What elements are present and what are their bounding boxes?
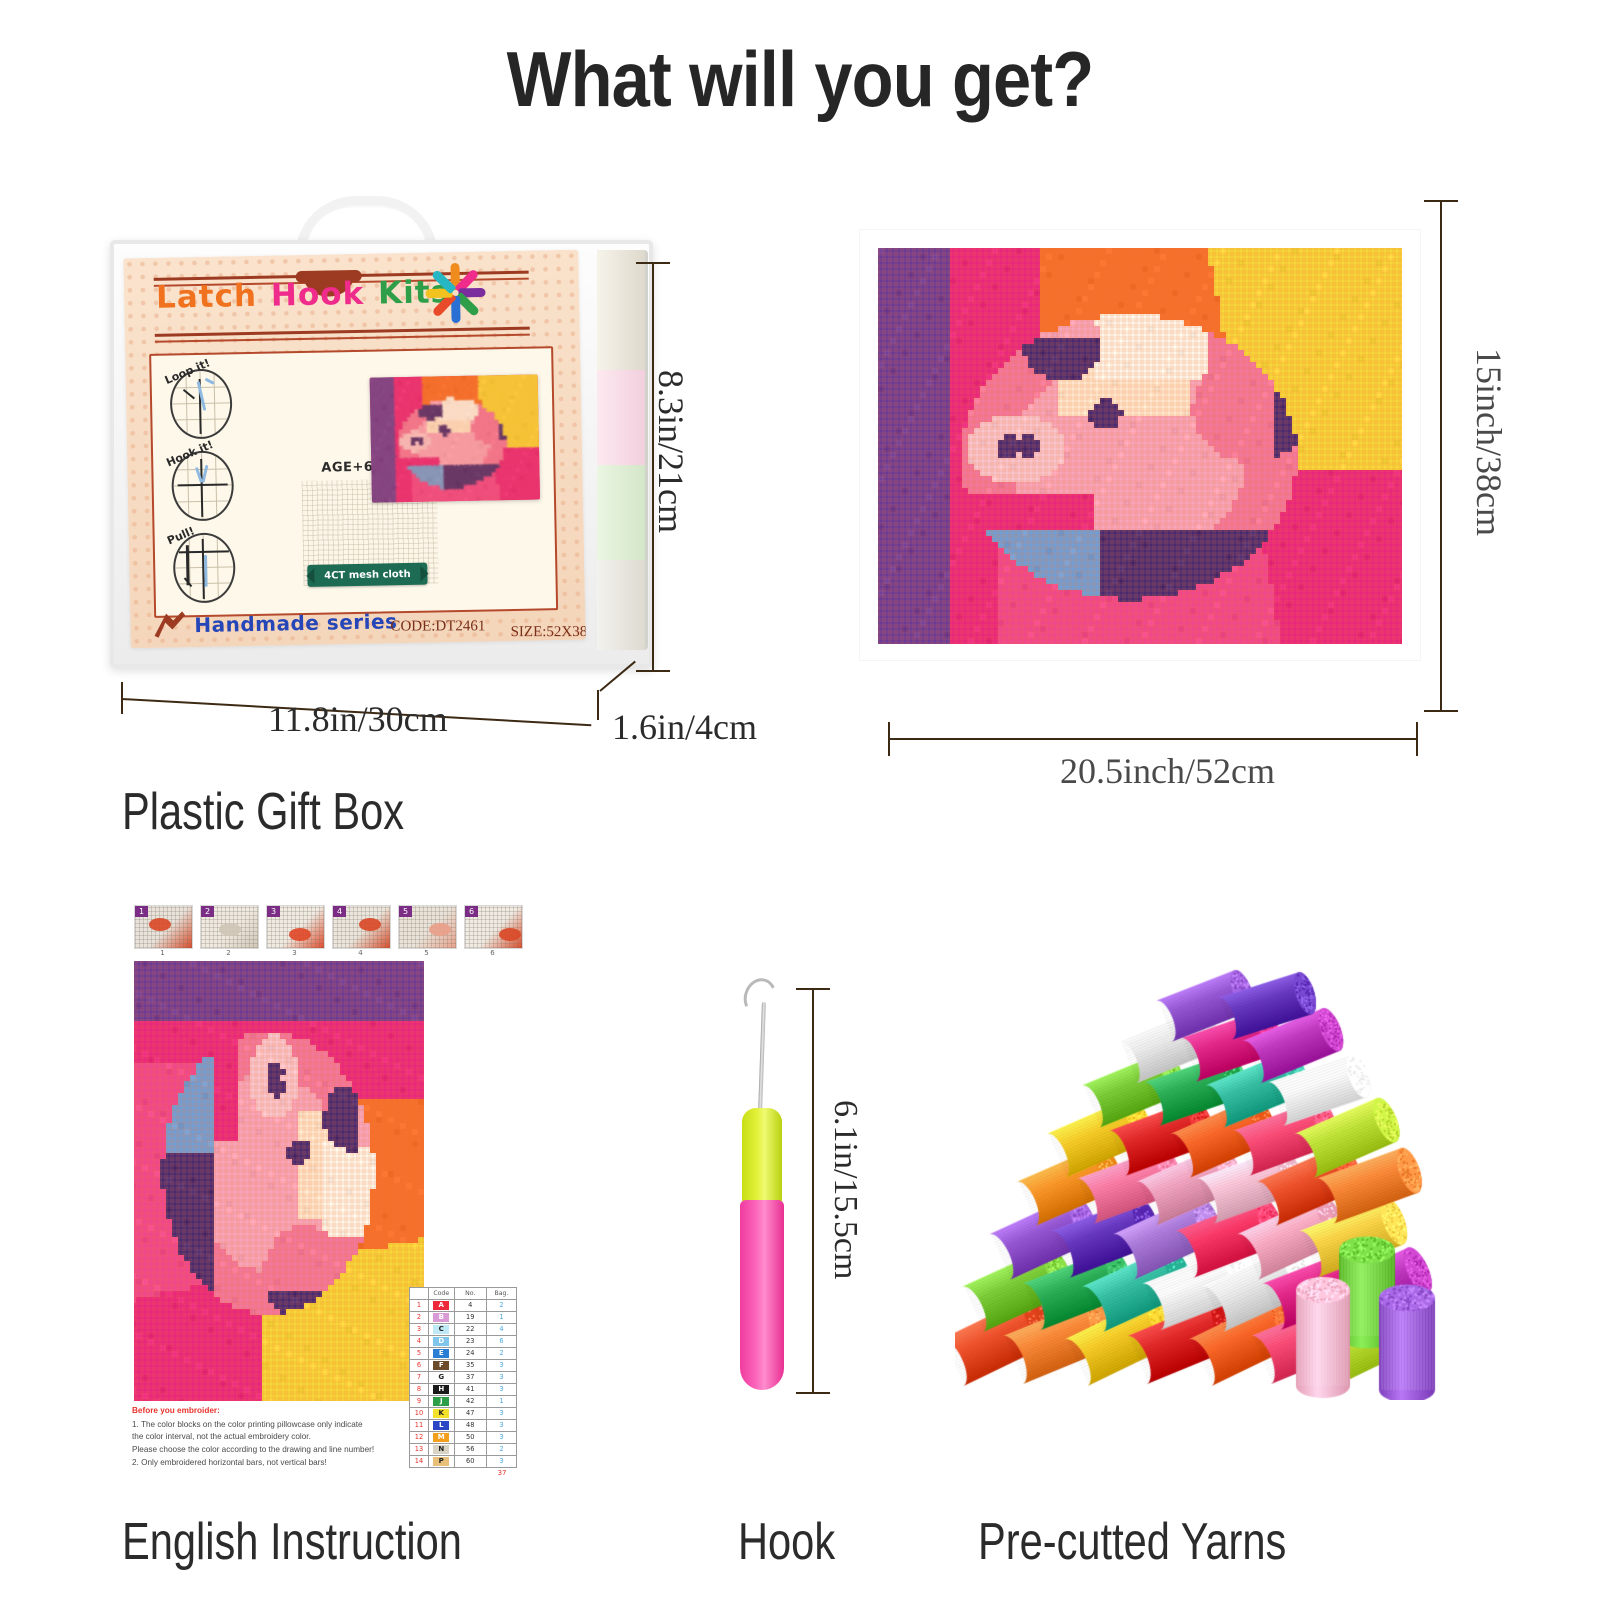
hook-handle-top [742, 1108, 782, 1203]
step-thumbnail-caption: 3 [266, 949, 323, 957]
legend-index: 4 [410, 1336, 429, 1348]
instruction-sheet: 112233445566 Before you embroider: 1. Th… [124, 905, 524, 1485]
hook-length-label: 6.1in/15.5cm [826, 1100, 864, 1279]
legend-row: 3C224 [410, 1324, 517, 1336]
legend-header: Code [428, 1288, 454, 1300]
legend-no: 42 [454, 1396, 486, 1408]
legend-row: 12M503 [410, 1432, 517, 1444]
legend-bag: 3 [486, 1420, 516, 1432]
legend-swatch: F [428, 1360, 454, 1372]
legend-no: 48 [454, 1420, 486, 1432]
legend-no: 50 [454, 1432, 486, 1444]
legend-total: 37 [410, 1468, 517, 1480]
legend-index: 6 [410, 1360, 429, 1372]
canvas-width-label: 20.5inch/52cm [1060, 750, 1275, 792]
brand-word-latch: Latch [156, 278, 258, 316]
legend-swatch: K [428, 1408, 454, 1420]
legend-bag: 3 [486, 1372, 516, 1384]
legend-header: Bag. [486, 1288, 516, 1300]
legend-swatch: P [428, 1456, 454, 1468]
step-thumbnail: 4 [332, 905, 391, 949]
legend-no: 47 [454, 1408, 486, 1420]
legend-index: 7 [410, 1372, 429, 1384]
step-thumbnail: 2 [200, 905, 259, 949]
legend-swatch: E [428, 1348, 454, 1360]
legend-row: 14P603 [410, 1456, 517, 1468]
product-size: SIZE:52X38CM [511, 624, 586, 641]
infographic-page: What will you get? LatchHookKits [0, 0, 1600, 1600]
legend-no: 56 [454, 1444, 486, 1456]
hook-length-dim-line [812, 988, 814, 1394]
box-side-panel [597, 250, 648, 650]
notice-line-4: 2. Only embroidered horizontal bars, not… [132, 1458, 327, 1467]
legend-index: 13 [410, 1444, 429, 1456]
legend-header [410, 1288, 429, 1300]
legend-index: 9 [410, 1396, 429, 1408]
legend-swatch: H [428, 1384, 454, 1396]
legend-index: 1 [410, 1300, 429, 1312]
arrow-icon [152, 609, 187, 640]
caption-gift-box: Plastic Gift Box [122, 782, 404, 842]
step-thumbnail-number: 6 [465, 906, 478, 917]
legend-swatch: L [428, 1420, 454, 1432]
legend-bag: 4 [486, 1324, 516, 1336]
legend-bag: 3 [486, 1408, 516, 1420]
caption-english-instruction: English Instruction [122, 1512, 462, 1572]
legend-bag: 1 [486, 1312, 516, 1324]
product-code: CODE:DT2461 [390, 618, 485, 635]
legend-swatch: J [428, 1396, 454, 1408]
box-height-label: 8.3in/21cm [650, 370, 692, 533]
notice-line-1: 1. The color blocks on the color printin… [132, 1420, 363, 1429]
step-thumbnail-caption: 1 [134, 949, 191, 957]
legend-no: 60 [454, 1456, 486, 1468]
legend-row: 5E242 [410, 1348, 517, 1360]
legend-index: 12 [410, 1432, 429, 1444]
legend-bag: 3 [486, 1360, 516, 1372]
step-thumbnail-caption: 4 [332, 949, 389, 957]
step-thumbnail-caption: 5 [398, 949, 455, 957]
legend-swatch: B [428, 1312, 454, 1324]
page-title: What will you get? [96, 34, 1504, 125]
legend-row: 6F353 [410, 1360, 517, 1372]
hook-tip-icon [739, 974, 781, 1020]
legend-swatch: C [428, 1324, 454, 1336]
legend-index: 3 [410, 1324, 429, 1336]
legend-no: 23 [454, 1336, 486, 1348]
step-thumbnail: 5 [398, 905, 457, 949]
legend-row: 1A42 [410, 1300, 517, 1312]
step-thumbnail-caption: 2 [200, 949, 257, 957]
box-width-label: 11.8in/30cm [268, 698, 448, 740]
pig-artwork-photo [370, 374, 540, 502]
legend-swatch: A [428, 1300, 454, 1312]
step-thumbnail: 3 [266, 905, 325, 949]
legend-index: 5 [410, 1348, 429, 1360]
legend-swatch: M [428, 1432, 454, 1444]
notice-heading: Before you embroider: [132, 1405, 382, 1418]
legend-bag: 3 [486, 1456, 516, 1468]
canvas-width-dim-line [888, 738, 1418, 740]
legend-bag: 2 [486, 1348, 516, 1360]
printed-canvas-illustration [860, 230, 1420, 660]
canvas-pixel-artwork [878, 248, 1402, 644]
legend-row: 2B191 [410, 1312, 517, 1324]
legend-swatch: N [428, 1444, 454, 1456]
step-thumbnail-row: 112233445566 [134, 905, 524, 953]
legend-index: 8 [410, 1384, 429, 1396]
yarn-pile-illustration [955, 950, 1475, 1400]
legend-no: 41 [454, 1384, 486, 1396]
instruction-chart-artwork [134, 961, 424, 1401]
step-thumbnail-number: 4 [333, 906, 346, 917]
step-thumbnail-caption: 6 [464, 949, 521, 957]
caption-yarns: Pre-cutted Yarns [978, 1512, 1286, 1572]
step-thumbnail-number: 2 [201, 906, 214, 917]
legend-no: 22 [454, 1324, 486, 1336]
legend-index: 2 [410, 1312, 429, 1324]
legend-bag: 6 [486, 1336, 516, 1348]
brand-title: LatchHookKits [156, 274, 451, 316]
legend-bag: 1 [486, 1396, 516, 1408]
color-legend-table: CodeNo.Bag.1A422B1913C2244D2365E2426F353… [409, 1287, 517, 1479]
step-thumbnail: 6 [464, 905, 523, 949]
legend-bag: 2 [486, 1300, 516, 1312]
step-circle-pull [173, 532, 236, 603]
pinwheel-logo-icon [423, 261, 486, 324]
legend-no: 35 [454, 1360, 486, 1372]
box-depth-label: 1.6in/4cm [612, 706, 757, 748]
series-label: Handmade series [194, 609, 398, 637]
notice-line-3: Please choose the color according to the… [132, 1445, 374, 1454]
legend-header: No. [454, 1288, 486, 1300]
legend-row: 7G373 [410, 1372, 517, 1384]
legend-no: 4 [454, 1300, 486, 1312]
legend-swatch: D [428, 1336, 454, 1348]
hook-shaft [758, 1002, 766, 1112]
hook-handle-bottom [740, 1200, 784, 1390]
step-thumbnail-number: 5 [399, 906, 412, 917]
canvas-height-label: 15inch/38cm [1468, 348, 1510, 536]
hook-illustration [700, 960, 830, 1430]
legend-no: 24 [454, 1348, 486, 1360]
legend-total-row: 37 [410, 1468, 517, 1480]
legend-bag: 2 [486, 1444, 516, 1456]
legend-bag: 3 [486, 1384, 516, 1396]
legend-row: 4D236 [410, 1336, 517, 1348]
legend-header-row: CodeNo.Bag. [410, 1288, 517, 1300]
card-inner-panel: Loop it! Hook it! [149, 346, 558, 618]
before-you-embroider-note: Before you embroider: 1. The color block… [132, 1405, 382, 1470]
notice-line-2: the color interval, not the actual embro… [132, 1432, 311, 1441]
legend-no: 37 [454, 1372, 486, 1384]
legend-no: 19 [454, 1312, 486, 1324]
step-thumbnail: 1 [134, 905, 193, 949]
legend-index: 14 [410, 1456, 429, 1468]
box-front-card: LatchHookKits Loop it! [123, 250, 585, 649]
caption-hook: Hook [738, 1512, 835, 1572]
legend-swatch: G [428, 1372, 454, 1384]
step-thumbnail-number: 1 [135, 906, 148, 917]
legend-bag: 3 [486, 1432, 516, 1444]
gift-box-illustration: LatchHookKits Loop it! [110, 196, 670, 666]
legend-index: 11 [410, 1420, 429, 1432]
step-thumbnail-number: 3 [267, 906, 280, 917]
legend-index: 10 [410, 1408, 429, 1420]
legend-row: 8H413 [410, 1384, 517, 1396]
legend-row: 9J421 [410, 1396, 517, 1408]
legend-row: 13N562 [410, 1444, 517, 1456]
brand-word-hook: Hook [271, 276, 365, 314]
legend-row: 11L483 [410, 1420, 517, 1432]
canvas-height-dim-line [1440, 200, 1442, 712]
legend-row: 10K473 [410, 1408, 517, 1420]
mesh-ribbon-label: 4CT mesh cloth [307, 563, 427, 587]
